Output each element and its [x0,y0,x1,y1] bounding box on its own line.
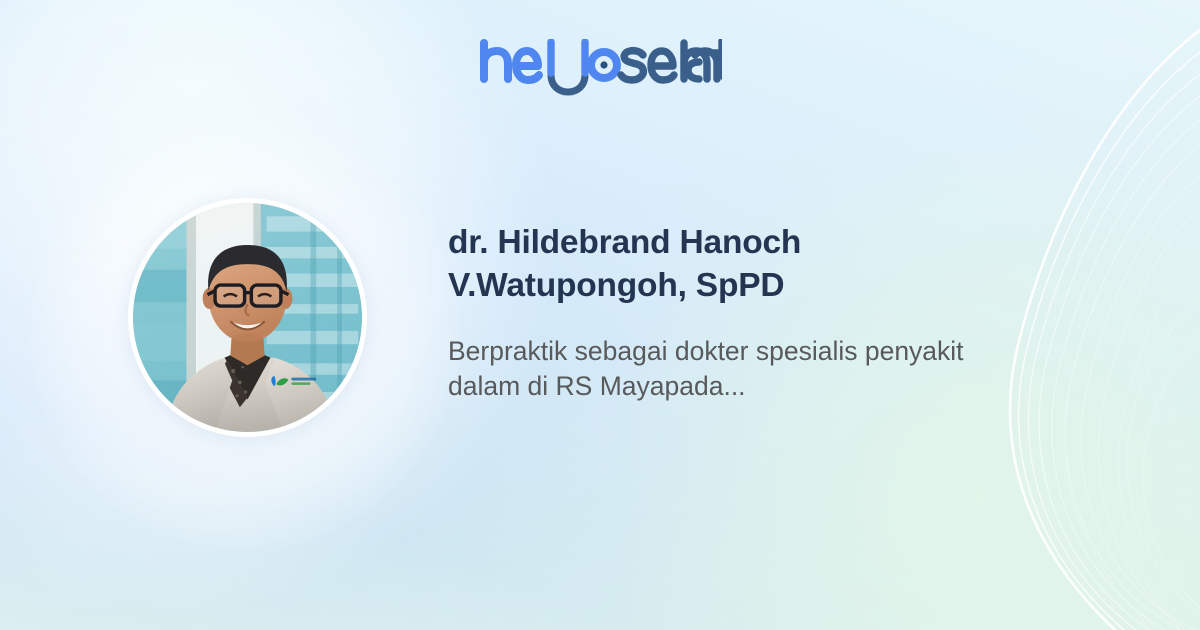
doctor-description: Berpraktik sebagai dokter spesialis peny… [448,334,988,404]
doctor-name: dr. Hildebrand Hanoch V.Watupongoh, SpPD [448,222,918,308]
hellosehat-logo[interactable]: hellosehat [0,38,1200,102]
doctor-text-block: dr. Hildebrand Hanoch V.Watupongoh, SpPD… [448,222,1008,404]
doctor-avatar: Foto dr. Hildebrand Hanoch V.Watupongoh,… [128,198,367,437]
avatar-image: Foto dr. Hildebrand Hanoch V.Watupongoh,… [133,203,362,432]
doctor-profile-card: hellosehat [0,0,1200,630]
